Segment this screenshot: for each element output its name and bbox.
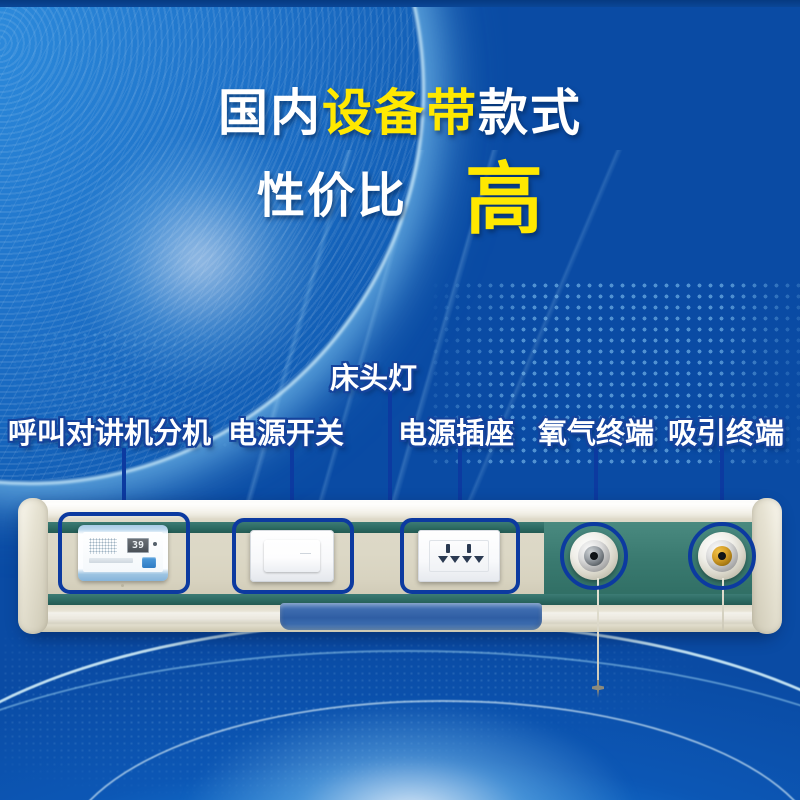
- callout-label-socket: 电源插座: [398, 410, 514, 452]
- poster-canvas: 国内设备带款式 性价比高 呼叫对讲机分机 电源开关 床头灯 电源插座 氧气终端 …: [0, 0, 800, 800]
- callout-label-lamp: 床头灯: [330, 355, 417, 397]
- highlight-circle-oxygen: [560, 522, 628, 590]
- callout-label-intercom: 呼叫对讲机分机: [8, 410, 211, 452]
- highlight-circle-suction: [688, 522, 756, 590]
- callout-label-suction: 吸引终端: [668, 410, 784, 452]
- headline-line-2: 性价比高: [0, 160, 800, 238]
- bottom-glow: [180, 700, 640, 800]
- pull-cord-icon[interactable]: [597, 578, 599, 688]
- headline-text-shebeidai: 设备带: [322, 85, 478, 141]
- bedside-lamp-strip-icon[interactable]: [280, 603, 542, 630]
- panel-end-cap-right: [752, 498, 782, 634]
- headline-text-xingjiabi: 性价比: [257, 170, 407, 223]
- headline-text-guonei: 国内: [218, 85, 322, 141]
- panel-end-cap-left: [18, 498, 48, 634]
- headline-text-gao: 高: [465, 155, 543, 243]
- headline-line-1: 国内设备带款式: [0, 88, 800, 138]
- highlight-box-switch: [232, 518, 354, 594]
- callout-label-oxygen: 氧气终端: [538, 410, 654, 452]
- callout-label-switch: 电源开关: [228, 410, 344, 452]
- top-edge-band: [0, 0, 800, 7]
- headline-text-kuanshi: 款式: [478, 85, 582, 141]
- highlight-box-socket: [400, 518, 520, 594]
- highlight-box-intercom: [58, 512, 190, 594]
